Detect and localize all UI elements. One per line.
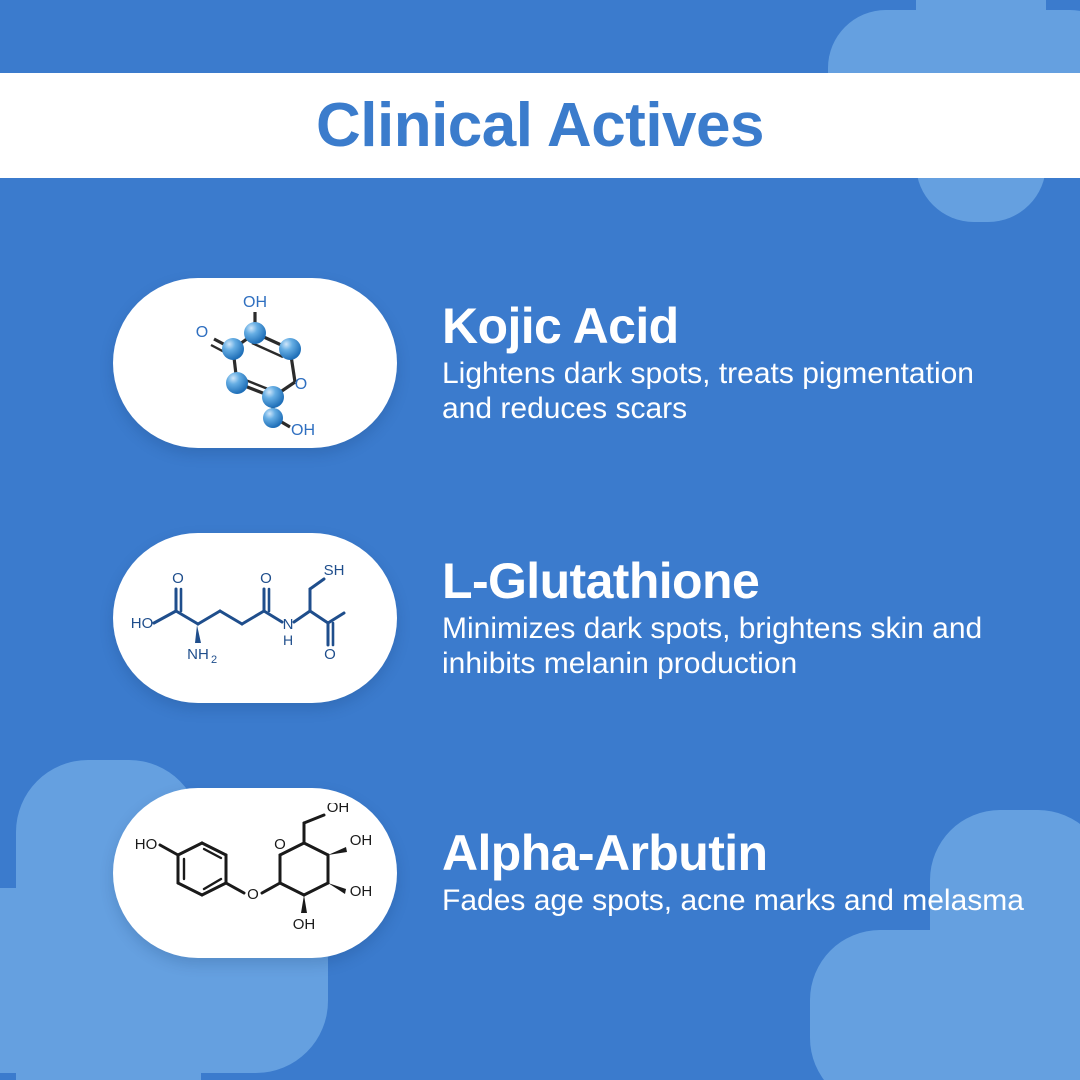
svg-text:OH: OH [350, 883, 373, 900]
svg-text:O: O [324, 646, 336, 663]
svg-text:SH: SH [324, 562, 345, 579]
ingredient-title: Alpha-Arbutin [442, 827, 1040, 879]
svg-text:O: O [172, 570, 184, 587]
svg-text:OH: OH [243, 294, 267, 311]
svg-text:O: O [196, 324, 208, 341]
svg-text:HO: HO [131, 615, 154, 632]
svg-text:O: O [274, 836, 286, 853]
ingredient-title: L-Glutathione [442, 555, 1040, 607]
list-item: HO O NH 2 O N H SH O L-Glutathione Minim… [0, 533, 1080, 703]
molecule-card-alpha-arbutin: HO O O OH OH OH OH [113, 788, 397, 958]
clinical-actives-poster: Clinical Actives [0, 0, 1080, 1080]
page-title: Clinical Actives [316, 95, 764, 157]
svg-text:HO: HO [135, 836, 158, 853]
svg-text:OH: OH [350, 832, 373, 849]
svg-text:O: O [260, 570, 272, 587]
header-banner: Clinical Actives [0, 73, 1080, 178]
ingredient-list: OH O O OH Kojic Acid Lightens dark spots… [0, 178, 1080, 1080]
l-glutathione-molecule-icon: HO O NH 2 O N H SH O [124, 553, 386, 683]
molecule-card-l-glutathione: HO O NH 2 O N H SH O [113, 533, 397, 703]
svg-text:OH: OH [327, 803, 350, 816]
svg-text:O: O [295, 376, 307, 393]
svg-text:2: 2 [211, 654, 217, 666]
list-item: HO O O OH OH OH OH Alpha-Arbutin Fades a… [0, 788, 1080, 958]
ingredient-description: Fades age spots, acne marks and melasma [442, 883, 1032, 918]
molecule-card-kojic-acid: OH O O OH [113, 278, 397, 448]
ingredient-description: Lightens dark spots, treats pigmentation… [442, 356, 1032, 427]
svg-text:H: H [283, 632, 293, 648]
svg-text:OH: OH [293, 916, 316, 933]
ingredient-text-alpha-arbutin: Alpha-Arbutin Fades age spots, acne mark… [442, 827, 1080, 918]
kojic-acid-molecule-icon: OH O O OH [140, 287, 370, 439]
svg-text:O: O [247, 886, 259, 903]
alpha-arbutin-molecule-icon: HO O O OH OH OH OH [130, 803, 380, 943]
svg-text:OH: OH [291, 422, 315, 439]
svg-text:N: N [283, 616, 294, 633]
list-item: OH O O OH Kojic Acid Lightens dark spots… [0, 278, 1080, 448]
ingredient-text-kojic-acid: Kojic Acid Lightens dark spots, treats p… [442, 300, 1080, 427]
ingredient-text-l-glutathione: L-Glutathione Minimizes dark spots, brig… [442, 555, 1080, 682]
ingredient-title: Kojic Acid [442, 300, 1040, 352]
ingredient-description: Minimizes dark spots, brightens skin and… [442, 611, 1032, 682]
svg-text:NH: NH [187, 646, 209, 663]
